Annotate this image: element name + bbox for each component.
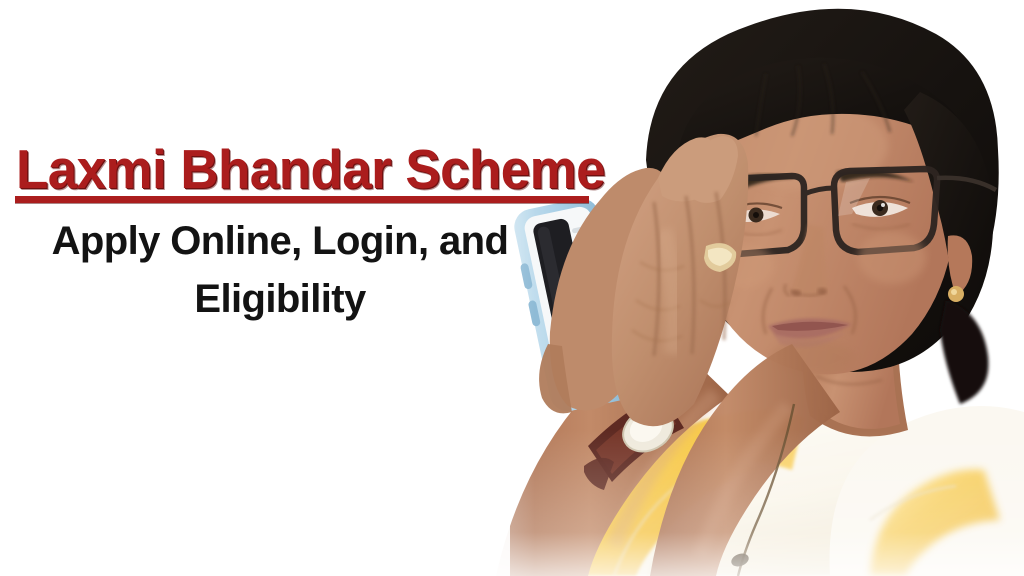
banner-root: Laxmi Bhandar Scheme Apply Online, Login… bbox=[0, 0, 1024, 576]
title-underline bbox=[15, 196, 589, 203]
page-subtitle: Apply Online, Login, and Eligibility bbox=[0, 212, 560, 328]
headline-block: Laxmi Bhandar Scheme Apply Online, Login… bbox=[0, 0, 600, 340]
page-title: Laxmi Bhandar Scheme bbox=[16, 141, 567, 197]
subtitle-line-1: Apply Online, Login, and bbox=[0, 212, 560, 270]
subtitle-line-2: Eligibility bbox=[0, 270, 560, 328]
